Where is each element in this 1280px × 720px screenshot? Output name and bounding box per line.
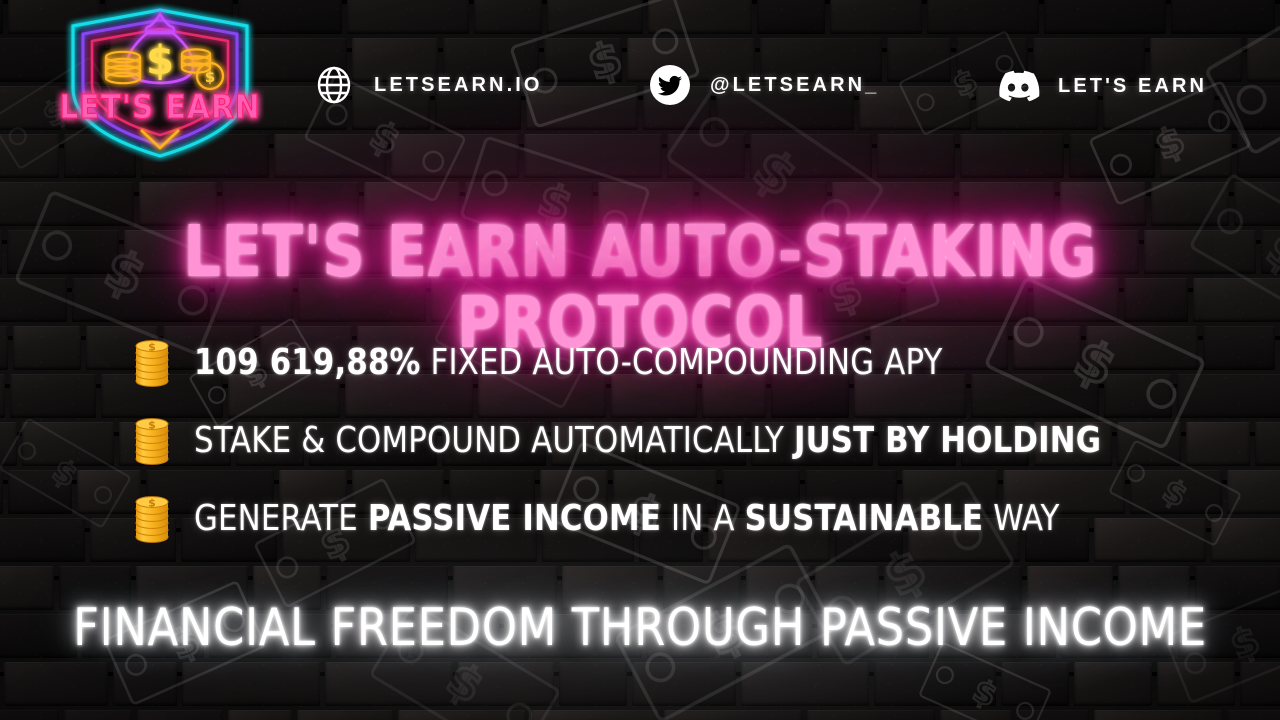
coin-stack-icon: $ [129, 414, 175, 466]
feature-item-label: GENERATE PASSIVE INCOME IN A SUSTAINABLE… [194, 498, 1060, 539]
svg-text:$: $ [148, 341, 156, 354]
logo-wordmark: LET'S EARN [59, 87, 260, 126]
discord-icon [996, 64, 1040, 108]
feature-text-part: FIXED AUTO-COMPOUNDING APY [421, 342, 943, 383]
svg-text:$: $ [148, 497, 156, 510]
feature-text-part: GENERATE [194, 498, 368, 539]
coin-stack-icon: $ [129, 492, 175, 544]
link-discord[interactable]: LET'S EARN [996, 64, 1207, 108]
feature-item: $ 109 619,88% FIXED AUTO-COMPOUNDING APY [129, 336, 1149, 388]
feature-text-part: 109 619,88% [194, 342, 421, 383]
feature-item-label: STAKE & COMPOUND AUTOMATICALLY JUST BY H… [194, 420, 1101, 461]
feature-item: $ STAKE & COMPOUND AUTOMATICALLY JUST BY… [129, 414, 1149, 466]
tagline: FINANCIAL FREEDOM THROUGH PASSIVE INCOME [26, 598, 1255, 658]
header: $ $ LET' [0, 0, 1280, 160]
feature-text-part: PASSIVE INCOME [368, 498, 661, 539]
lets-earn-neon-shield-logo: $ $ LET' [55, 2, 265, 162]
discord-label: LET'S EARN [1058, 75, 1207, 98]
feature-text-part: JUST BY HOLDING [794, 420, 1101, 461]
link-website[interactable]: LETSEARN.IO [312, 63, 543, 107]
promo-banner: $ $ $ $ [0, 0, 1280, 720]
svg-text:$: $ [146, 38, 174, 84]
feature-text-part: IN A [661, 498, 745, 539]
globe-icon [312, 63, 356, 107]
svg-text:$: $ [148, 419, 156, 432]
feature-text-part: WAY [983, 498, 1059, 539]
svg-text:$: $ [205, 68, 215, 86]
feature-text-part: SUSTAINABLE [745, 498, 984, 539]
website-label: LETSEARN.IO [374, 74, 543, 97]
feature-item-label: 109 619,88% FIXED AUTO-COMPOUNDING APY [194, 342, 942, 383]
feature-text-part: STAKE & COMPOUND AUTOMATICALLY [194, 420, 794, 461]
feature-list: $ 109 619,88% FIXED AUTO-COMPOUNDING APY… [129, 336, 1149, 544]
feature-item: $ GENERATE PASSIVE INCOME IN A SUSTAINAB… [129, 492, 1149, 544]
link-twitter[interactable]: @LETSEARN_ [648, 63, 879, 107]
twitter-label: @LETSEARN_ [710, 74, 879, 97]
twitter-icon [648, 63, 692, 107]
logo[interactable]: $ $ LET' [55, 2, 265, 162]
coin-stack-icon: $ [129, 336, 175, 388]
